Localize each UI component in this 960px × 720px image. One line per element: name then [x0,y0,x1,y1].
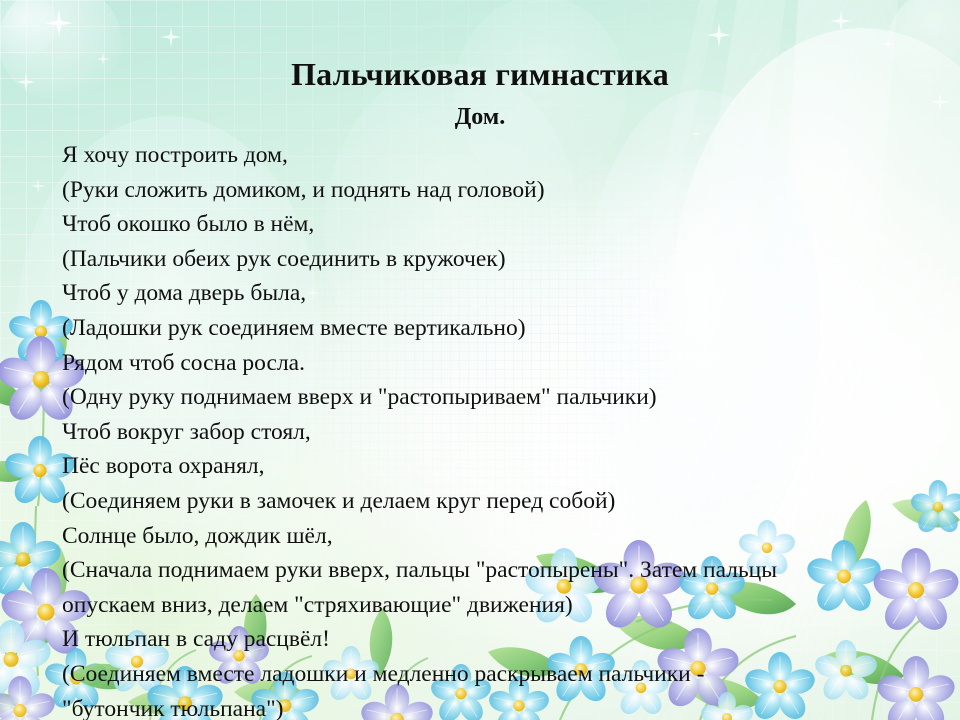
poem-line: (Соединяем вместе ладошки и медленно рас… [62,657,942,692]
slide-content: Пальчиковая гимнастика Дом. Я хочу постр… [0,0,960,720]
poem-line: (Пальчики обеих рук соединить в кружочек… [62,242,942,277]
poem-line: Солнце было, дождик шёл, [62,519,942,554]
poem-line: (Соединяем руки в замочек и делаем круг … [62,484,942,519]
poem-line: И тюльпан в саду расцвёл! [62,622,942,657]
poem-line: Рядом чтоб сосна росла. [62,346,942,381]
poem-line: (Одну руку поднимаем вверх и "растопырив… [62,380,942,415]
poem-body: Я хочу построить дом, (Руки сложить доми… [62,138,942,720]
poem-line: (Руки сложить домиком, и поднять над гол… [62,173,942,208]
poem-line: (Сначала поднимаем руки вверх, пальцы "р… [62,553,942,588]
slide-canvas: Пальчиковая гимнастика Дом. Я хочу постр… [0,0,960,720]
page-subtitle: Дом. [0,104,960,130]
page-title: Пальчиковая гимнастика [0,58,960,92]
poem-line: Я хочу построить дом, [62,138,942,173]
poem-line: "бутончик тюльпана") [62,692,942,720]
poem-line: Пёс ворота охранял, [62,449,942,484]
poem-line: Чтоб вокруг забор стоял, [62,415,942,450]
poem-line: опускаем вниз, делаем "стряхивающие" дви… [62,588,942,623]
poem-line: (Ладошки рук соединяем вместе вертикальн… [62,311,942,346]
poem-line: Чтоб у дома дверь была, [62,276,942,311]
poem-line: Чтоб окошко было в нём, [62,207,942,242]
